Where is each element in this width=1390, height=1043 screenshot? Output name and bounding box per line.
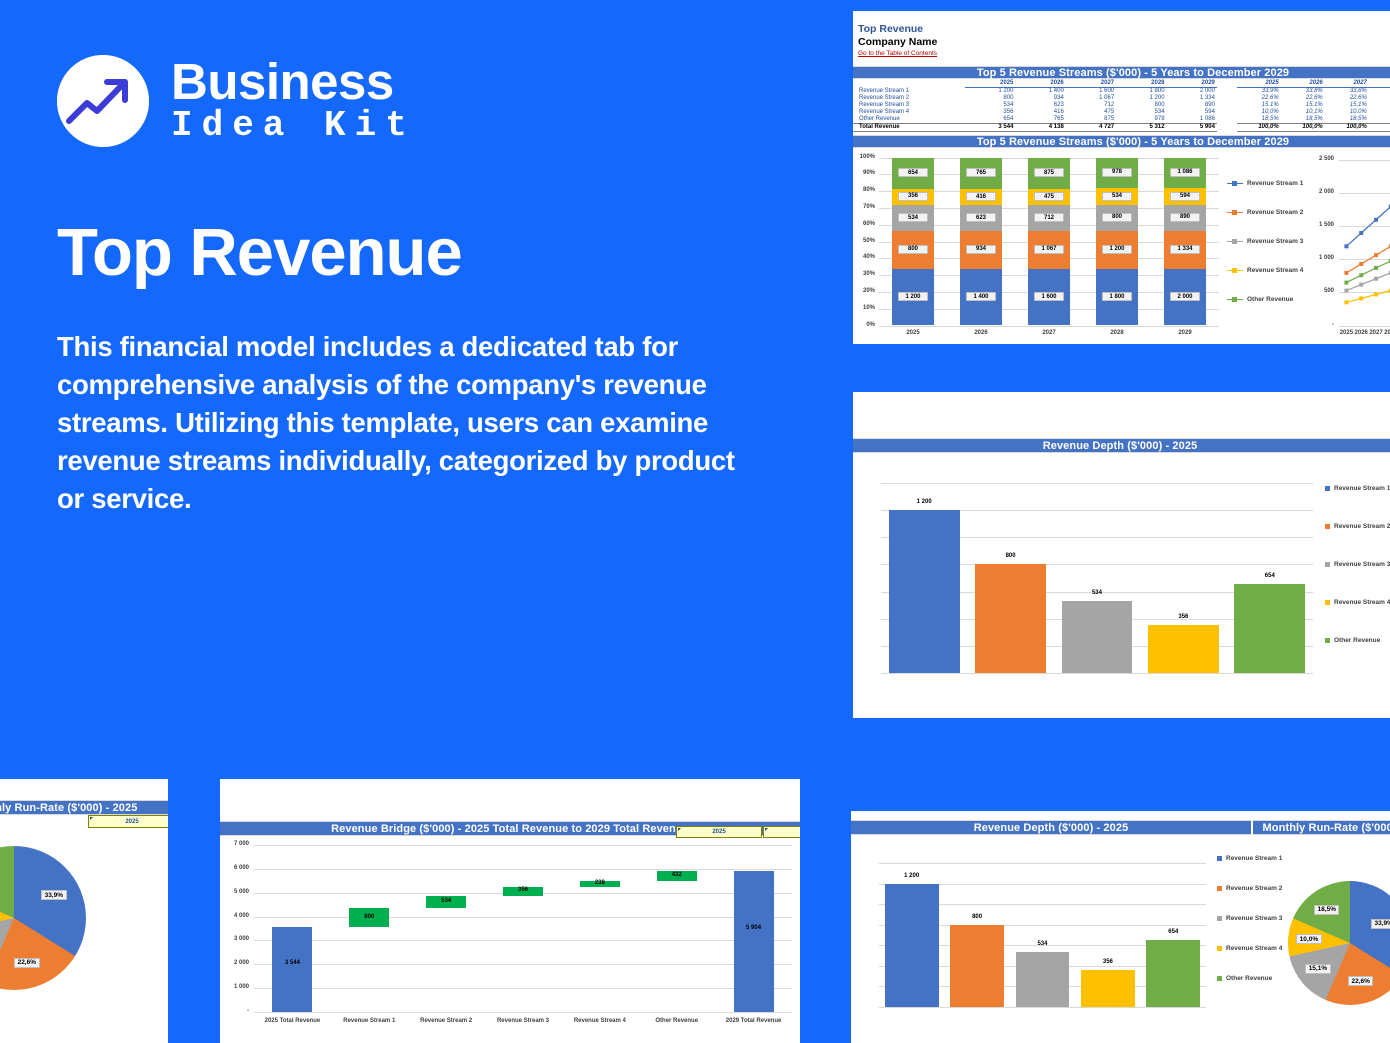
- bar-value-label: 1 400: [966, 292, 996, 301]
- chart-revenue-depth-2025-bottom[interactable]: 1 200800534356654: [865, 843, 1210, 1011]
- legend-swatch: [1325, 486, 1330, 491]
- brand-name-primary: Business: [171, 57, 416, 107]
- bar-value-label: 2 000: [1170, 292, 1200, 301]
- y-axis-tick: 1 000: [220, 984, 249, 990]
- y-axis-tick: -: [220, 1008, 249, 1014]
- card-top-revenue-streams: Top Revenue Company Name Go to the Table…: [853, 11, 1390, 344]
- bar-value-label: 534: [898, 213, 928, 222]
- legend-item: Revenue Stream 4: [1217, 945, 1282, 952]
- legend-label: Other Revenue: [1247, 296, 1293, 303]
- run-rate-banner-left: Monthly Run-Rate ($'000) - 2025: [0, 800, 168, 815]
- legend-item: Other Revenue: [1227, 296, 1293, 303]
- legend-point-marker: [1232, 297, 1237, 302]
- column-bar[interactable]: [1234, 584, 1305, 673]
- gridline: [254, 917, 792, 918]
- bar-value-label: 534: [1016, 941, 1070, 947]
- y-axis-tick: 2 000: [220, 960, 249, 966]
- bar-value-label: 356: [1081, 959, 1135, 965]
- gridline: [254, 940, 792, 941]
- bar-value-label: 594: [1170, 192, 1200, 201]
- card-revenue-depth-and-run-rate: Revenue Depth ($'000) - 2025 Monthly Run…: [851, 811, 1390, 1043]
- bridge-year-to-selector[interactable]: 2029: [763, 826, 800, 838]
- pie-slices[interactable]: [0, 846, 86, 990]
- x-axis-tick: 2025: [879, 330, 947, 336]
- chart-revenue-bridge[interactable]: -1 0002 0003 0004 0005 0006 0007 0003 54…: [220, 839, 800, 1034]
- legend-label: Other Revenue: [1334, 637, 1380, 644]
- bar-value-label: 654: [1146, 929, 1200, 935]
- revenue-depth-chart-area: 1 200800534356654 Revenue Stream 1Revenu…: [853, 453, 1390, 693]
- y-axis-tick: 20%: [853, 288, 875, 294]
- gridline: [254, 964, 792, 965]
- chart-monthly-run-rate-pie-right[interactable]: 33,9%22,6%15,1%10,0%18,5%: [1287, 835, 1390, 1040]
- legend-item: Revenue Stream 3: [1227, 238, 1303, 245]
- column-bar[interactable]: [1081, 970, 1135, 1007]
- y-axis-tick: 70%: [853, 204, 875, 210]
- pie-slice-label: 18,5%: [1314, 905, 1339, 915]
- y-axis-tick: 10%: [853, 305, 875, 311]
- revenue-depth-banner: Revenue Depth ($'000) - 2025: [853, 438, 1387, 453]
- legend-item: Revenue Stream 2: [1325, 523, 1390, 530]
- bar-value-label: 1 200: [885, 873, 939, 879]
- legend-point-marker: [1232, 181, 1237, 186]
- x-axis-tick: Other Revenue: [638, 1018, 715, 1024]
- pie-slice-label: 10,0%: [1296, 934, 1321, 944]
- bar-value-label: 654: [1234, 573, 1305, 579]
- bar-value-label: 978: [1102, 168, 1132, 177]
- legend-swatch: [1325, 524, 1330, 529]
- table-row: Revenue Stream 1 1 2001 400 1 6001 800 2…: [853, 87, 1390, 95]
- bar-value-label: 534: [1102, 192, 1132, 201]
- pie-slice-label: 15,1%: [1305, 964, 1330, 974]
- chart-monthly-run-rate-pie-left[interactable]: 33,9%22,6%15,1%10,0%18,5%: [0, 815, 168, 1015]
- bar-value-label: 1 200: [898, 292, 928, 301]
- legend-swatch: [1217, 856, 1222, 861]
- pie-slice-label: 22,6%: [14, 958, 39, 968]
- x-axis-tick: 2026: [947, 330, 1015, 336]
- gridline: [881, 673, 1313, 674]
- column-bar[interactable]: [1062, 601, 1133, 673]
- chart-revenue-trend-lines[interactable]: -5001 0001 5002 0002 5002025202620272028…: [1315, 152, 1390, 342]
- revenue-streams-table: 2025 2026 2027 2028 2029 2025 2026 2027 …: [853, 79, 1390, 132]
- run-rate-banner-bottom: Monthly Run-Rate ($'000) - 2025: [1251, 820, 1390, 835]
- table-row: Revenue Stream 2 800934 1 0671 200 1 334…: [853, 95, 1390, 102]
- legend-swatch: [1217, 976, 1222, 981]
- x-axis-tick: Revenue Stream 4: [561, 1018, 638, 1024]
- sheet-title: Top Revenue: [858, 23, 1390, 36]
- x-axis-tick: 2027: [1015, 330, 1083, 336]
- column-bar[interactable]: [975, 564, 1046, 673]
- x-axis-tick: 2026: [1354, 330, 1369, 336]
- legend-item: Revenue Stream 2: [1217, 885, 1282, 892]
- column-bar[interactable]: [885, 884, 939, 1007]
- bar-value-label: 800: [1102, 213, 1132, 222]
- y-axis-tick: 4 000: [220, 913, 249, 919]
- y-axis-tick: 100%: [853, 154, 875, 160]
- legend-item: Revenue Stream 3: [1217, 915, 1282, 922]
- bar-value-label: 1 800: [1102, 292, 1132, 301]
- waterfall-bar[interactable]: [272, 927, 312, 1012]
- table-header-row: 2025 2026 2027 2028 2029 2025 2026 2027 …: [853, 79, 1390, 87]
- gridline: [879, 863, 1206, 864]
- legend-label: Revenue Stream 3: [1334, 561, 1390, 568]
- bar-value-label: 356: [898, 192, 928, 201]
- legend-label: Revenue Stream 1: [1334, 485, 1390, 492]
- x-axis-tick: 2025: [1339, 330, 1354, 336]
- bar-value-label: 534: [1062, 590, 1133, 596]
- legend-item: Revenue Stream 1: [1227, 180, 1303, 187]
- legend-line-marker: [1227, 241, 1243, 242]
- bar-value-label: 356: [503, 887, 543, 893]
- legend-swatch: [1325, 638, 1330, 643]
- gridline: [879, 1007, 1206, 1008]
- bar-value-label: 432: [657, 872, 697, 878]
- bar-value-label: 1 200: [1102, 245, 1132, 254]
- legend-item: Revenue Stream 3: [1325, 561, 1390, 568]
- bar-value-label: 3 544: [272, 960, 312, 966]
- legend-line-marker: [1227, 270, 1243, 271]
- gridline: [879, 326, 1219, 327]
- chart-revenue-depth-legend-bottom: Revenue Stream 1Revenue Stream 2Revenue …: [1215, 843, 1295, 1011]
- bar-value-label: 934: [966, 245, 996, 254]
- column-bar[interactable]: [1016, 952, 1070, 1007]
- gridline: [254, 869, 792, 870]
- pie-slice-label: 22,6%: [1348, 976, 1373, 986]
- sheet-company: Company Name: [858, 36, 1390, 49]
- legend-line-marker: [1227, 299, 1243, 300]
- brand-panel: Business Idea Kit Top Revenue This finan…: [57, 55, 817, 518]
- bar-value-label: 800: [950, 914, 1004, 920]
- legend-label: Revenue Stream 4: [1247, 267, 1303, 274]
- charts-row: 0%10%20%30%40%50%60%70%80%90%100%1 20080…: [853, 148, 1390, 343]
- bar-value-label: 890: [1170, 213, 1200, 222]
- bar-value-label: 1 067: [1034, 245, 1064, 254]
- legend-swatch: [1217, 916, 1222, 921]
- legend-item: Other Revenue: [1217, 975, 1272, 982]
- bar-value-label: 623: [966, 213, 996, 222]
- bar-value-label: 238: [580, 880, 620, 886]
- legend-label: Revenue Stream 3: [1247, 238, 1303, 245]
- y-axis-tick: 30%: [853, 271, 875, 277]
- legend-point-marker: [1232, 239, 1237, 244]
- revenue-depth-banner-bottom: Revenue Depth ($'000) - 2025: [851, 820, 1251, 835]
- table-of-contents-link[interactable]: Go to the Table of Contents: [858, 49, 1390, 59]
- waterfall-bar[interactable]: [734, 871, 774, 1012]
- legend-item: Revenue Stream 4: [1227, 267, 1303, 274]
- gridline: [881, 483, 1313, 484]
- growth-arrow-circle-icon: [57, 55, 149, 147]
- bar-value-label: 1 334: [1170, 245, 1200, 254]
- legend-item: Revenue Stream 1: [1325, 485, 1390, 492]
- bottom-charts-area: 1 200800534356654 Revenue Stream 1Revenu…: [851, 835, 1390, 1040]
- bar-value-label: 356: [1148, 614, 1219, 620]
- column-bar[interactable]: [1146, 940, 1200, 1007]
- card-revenue-depth: Revenue Depth ($'000) - 2025 1 200800534…: [853, 392, 1390, 718]
- x-axis-tick: 2029 Total Revenue: [715, 1018, 792, 1024]
- y-axis-tick: 40%: [853, 254, 875, 260]
- bar-value-label: 5 904: [734, 925, 774, 931]
- table-row: Revenue Stream 4 356416 475534 594 10,0%…: [853, 109, 1390, 116]
- card-monthly-run-rate-left: Monthly Run-Rate ($'000) - 2025 2025 33,…: [0, 779, 168, 1043]
- bar-value-label: 800: [975, 553, 1046, 559]
- legend-label: Other Revenue: [1226, 975, 1272, 982]
- bar-value-label: 1 086: [1170, 168, 1200, 177]
- legend-label: Revenue Stream 3: [1226, 915, 1282, 922]
- legend-label: Revenue Stream 1: [1226, 855, 1282, 862]
- x-axis-tick: 2025 Total Revenue: [254, 1018, 331, 1024]
- chart-revenue-depth-legend: Revenue Stream 1Revenue Stream 2Revenue …: [1323, 461, 1390, 679]
- legend-label: Revenue Stream 4: [1226, 945, 1282, 952]
- legend-item: Revenue Stream 4: [1325, 599, 1390, 606]
- bar-value-label: 654: [898, 168, 928, 177]
- column-bar[interactable]: [950, 925, 1004, 1007]
- gridline: [254, 845, 792, 846]
- line-series-svg: [1315, 152, 1390, 342]
- bridge-year-from-selector[interactable]: 2025: [676, 826, 762, 838]
- legend-item: Other Revenue: [1325, 637, 1380, 644]
- bar-value-label: 712: [1034, 213, 1064, 222]
- card-revenue-bridge: Revenue Bridge ($'000) - 2025 Total Reve…: [220, 779, 800, 1043]
- chart-stacked-legend: Revenue Stream 1Revenue Stream 2Revenue …: [1223, 152, 1318, 342]
- sheet-header: Top Revenue Company Name Go to the Table…: [853, 11, 1390, 59]
- legend-swatch: [1217, 946, 1222, 951]
- bar-value-label: 800: [349, 914, 389, 920]
- chart-stacked-revenue-streams[interactable]: 0%10%20%30%40%50%60%70%80%90%100%1 20080…: [853, 152, 1223, 342]
- table-row: Revenue Stream 3 534623 712800 890 15,1%…: [853, 102, 1390, 109]
- bar-value-label: 765: [966, 168, 996, 177]
- y-axis-tick: 3 000: [220, 936, 249, 942]
- x-axis-tick: 2028: [1083, 330, 1151, 336]
- legend-label: Revenue Stream 4: [1334, 599, 1390, 606]
- bar-value-label: 1 600: [1034, 292, 1064, 301]
- legend-swatch: [1217, 886, 1222, 891]
- legend-item: Revenue Stream 1: [1217, 855, 1282, 862]
- pie-slice-label: 33,9%: [41, 890, 66, 900]
- page-title: Top Revenue: [57, 219, 817, 286]
- x-axis-tick: Revenue Stream 3: [485, 1018, 562, 1024]
- legend-item: Revenue Stream 2: [1227, 209, 1303, 216]
- y-axis-tick: 5 000: [220, 889, 249, 895]
- gridline: [254, 1012, 792, 1013]
- brand-lockup: Business Idea Kit: [57, 55, 817, 147]
- x-axis-tick: Revenue Stream 1: [331, 1018, 408, 1024]
- legend-point-marker: [1232, 268, 1237, 273]
- column-bar[interactable]: [1148, 625, 1219, 673]
- gridline: [254, 988, 792, 989]
- legend-point-marker: [1232, 210, 1237, 215]
- brand-name-secondary: Idea Kit: [171, 107, 416, 145]
- pie-slice-label: 33,9%: [1371, 919, 1390, 929]
- legend-line-marker: [1227, 212, 1243, 213]
- bar-value-label: 875: [1034, 168, 1064, 177]
- legend-label: Revenue Stream 2: [1247, 209, 1303, 216]
- x-axis-tick: 2028: [1383, 330, 1390, 336]
- y-axis-tick: 0%: [853, 322, 875, 328]
- legend-swatch: [1325, 600, 1330, 605]
- bar-value-label: 416: [966, 192, 996, 201]
- column-bar[interactable]: [889, 510, 960, 673]
- y-axis-tick: 90%: [853, 170, 875, 176]
- bar-value-label: 1 200: [889, 499, 960, 505]
- page-description: This financial model includes a dedicate…: [57, 328, 767, 518]
- x-axis-tick: 2029: [1151, 330, 1219, 336]
- charts-banner: Top 5 Revenue Streams ($'000) - 5 Years …: [853, 135, 1390, 148]
- x-axis-tick: 2027: [1369, 330, 1384, 336]
- table-total-row: Total Revenue 3 5444 138 4 7275 312 5 90…: [853, 123, 1390, 131]
- bar-value-label: 475: [1034, 192, 1064, 201]
- y-axis-tick: 80%: [853, 187, 875, 193]
- legend-label: Revenue Stream 2: [1226, 885, 1282, 892]
- y-axis-tick: 60%: [853, 221, 875, 227]
- legend-line-marker: [1227, 183, 1243, 184]
- legend-label: Revenue Stream 1: [1247, 180, 1303, 187]
- y-axis-tick: 6 000: [220, 865, 249, 871]
- bar-value-label: 534: [426, 898, 466, 904]
- bar-value-label: 800: [898, 245, 928, 254]
- table-banner: Top 5 Revenue Streams ($'000) - 5 Years …: [853, 66, 1390, 79]
- chart-revenue-depth-2025[interactable]: 1 200800534356654: [867, 461, 1317, 679]
- y-axis-tick: 50%: [853, 238, 875, 244]
- legend-swatch: [1325, 562, 1330, 567]
- x-axis-tick: Revenue Stream 2: [408, 1018, 485, 1024]
- legend-label: Revenue Stream 2: [1334, 523, 1390, 530]
- y-axis-tick: 7 000: [220, 841, 249, 847]
- table-row: Other Revenue 654765 875978 1 086 18,5%1…: [853, 116, 1390, 124]
